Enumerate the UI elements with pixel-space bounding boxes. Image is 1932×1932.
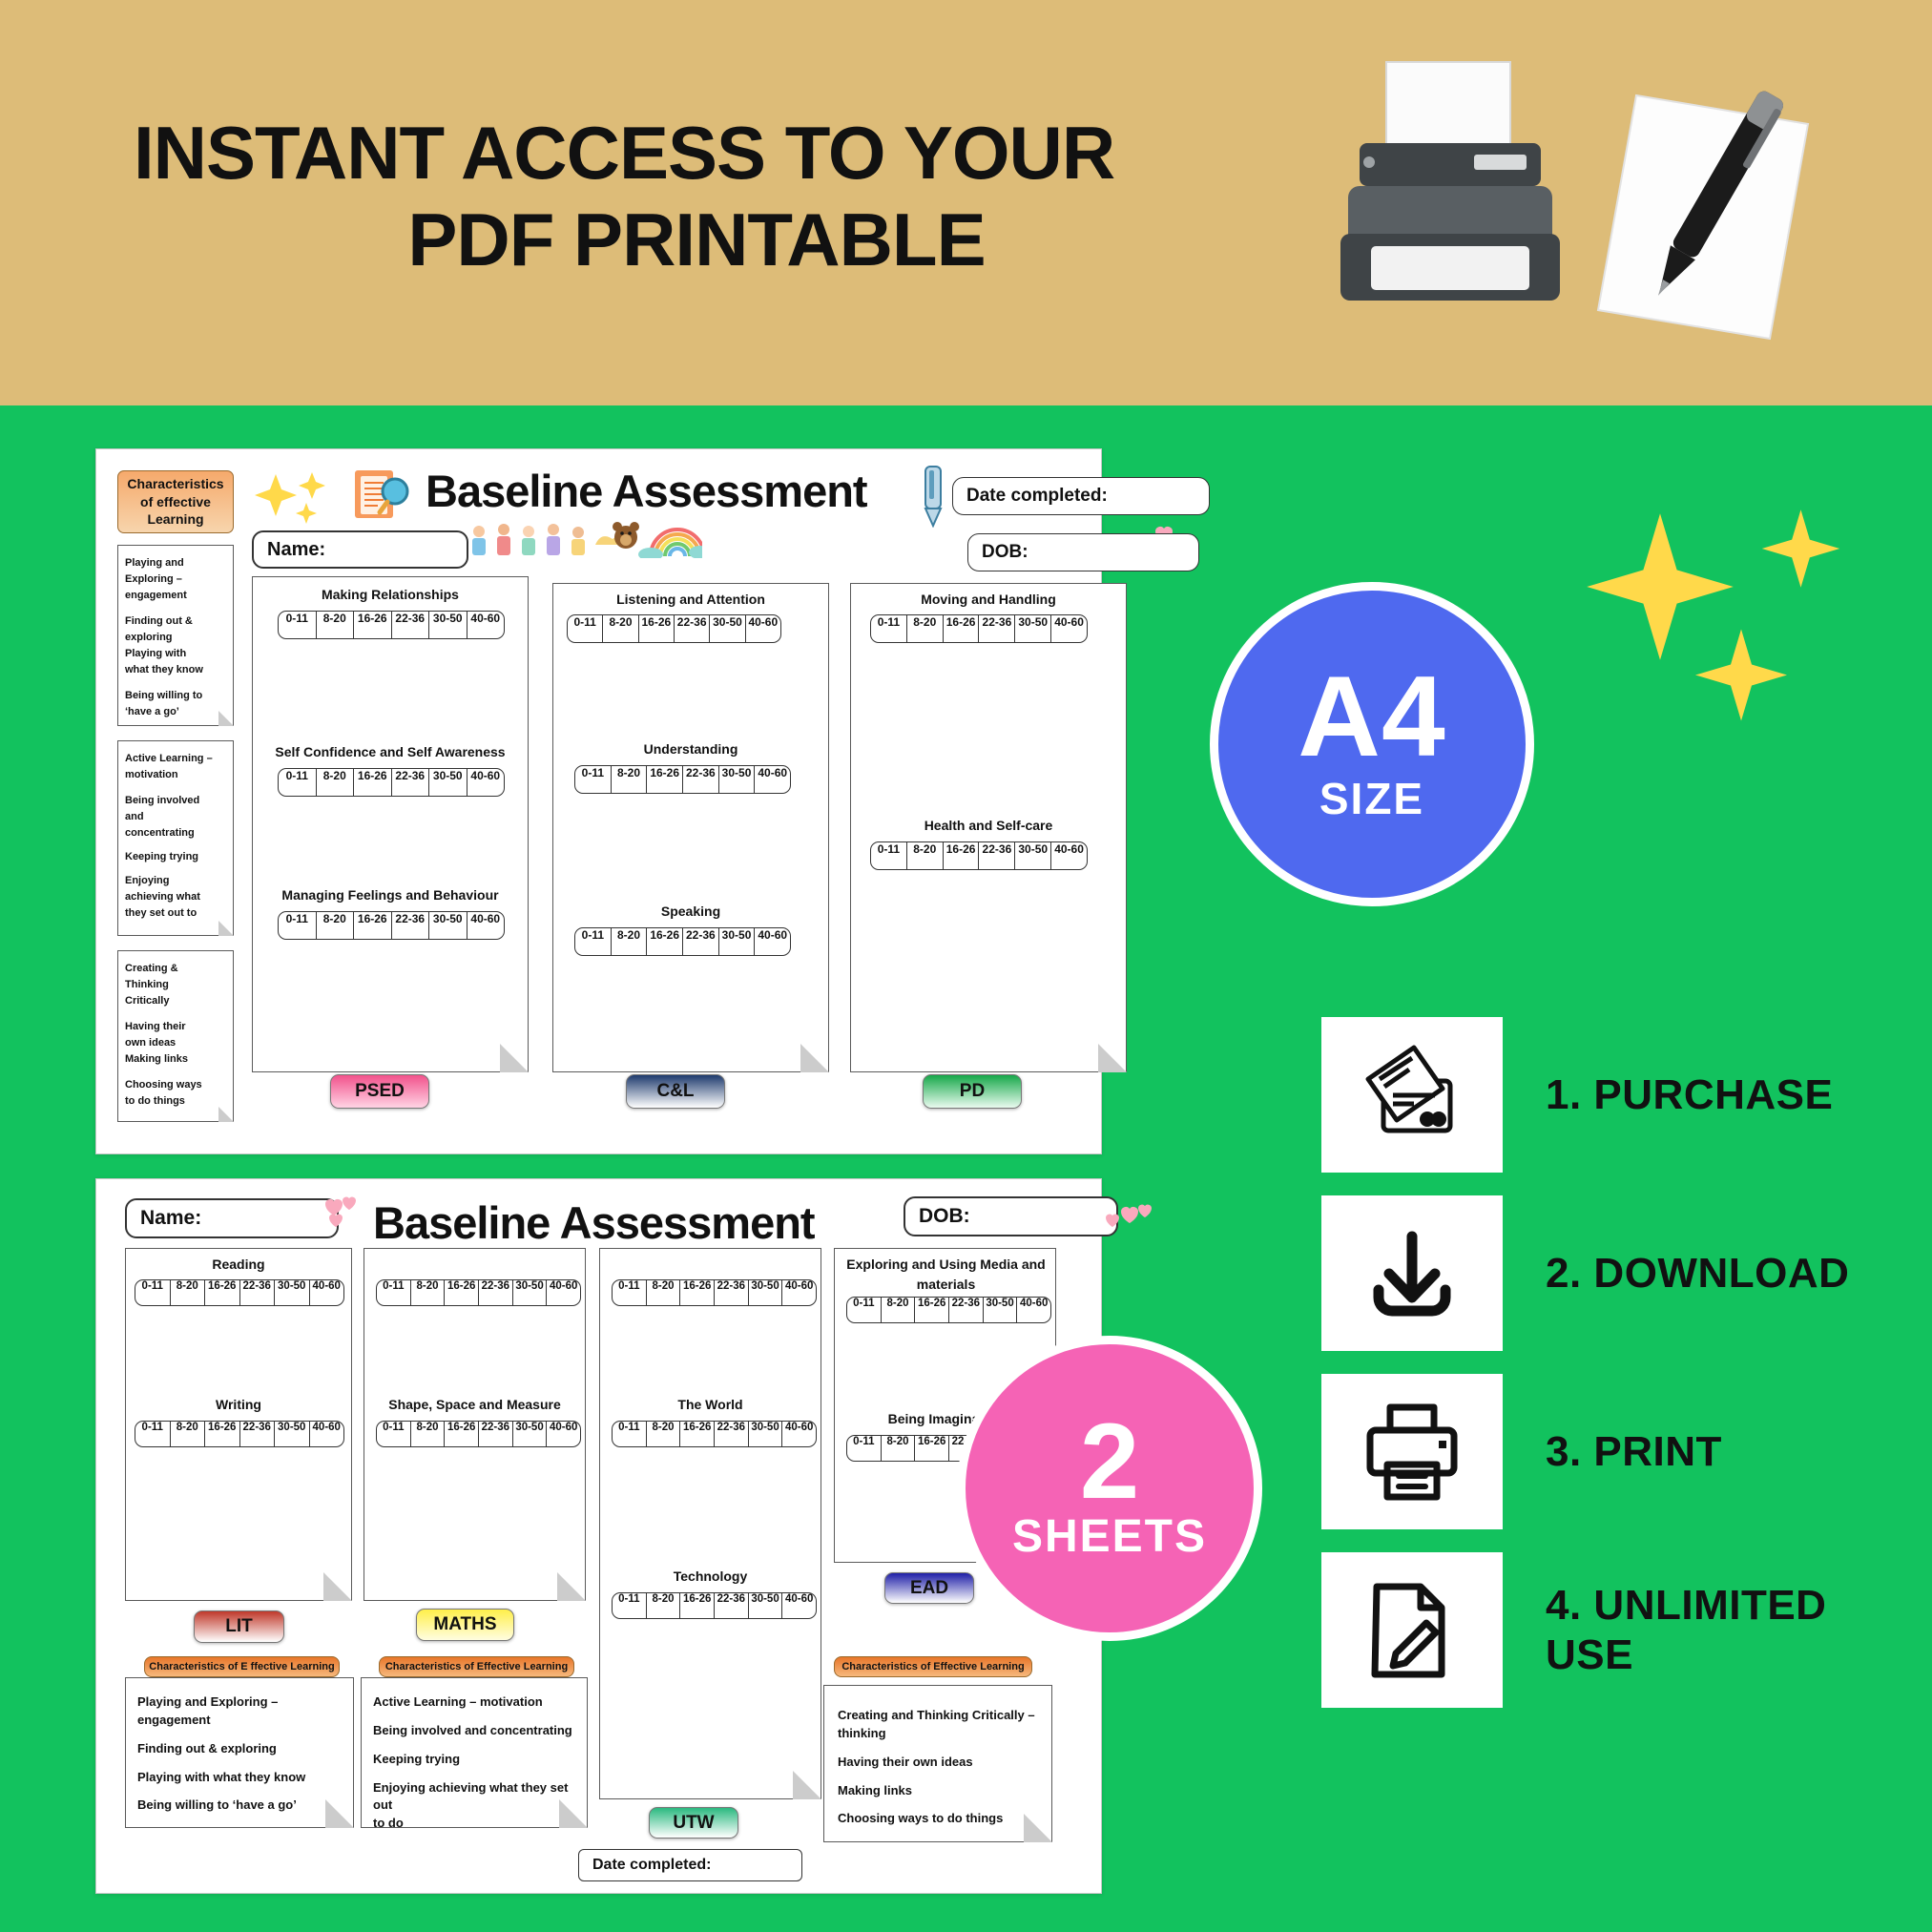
age-band-cell[interactable]: 16-26	[680, 1422, 715, 1446]
age-band-row[interactable]: 0-11 8-20 16-26 22-36 30-50 40-60	[135, 1279, 344, 1306]
age-band-cell[interactable]: 8-20	[171, 1422, 206, 1446]
step-purchase: 1. PURCHASE	[1321, 1011, 1913, 1178]
age-band-cell[interactable]: 16-26	[944, 615, 980, 642]
age-band-cell[interactable]: 22-36	[715, 1280, 749, 1305]
age-band-cell[interactable]: 30-50	[749, 1422, 783, 1446]
age-band-cell[interactable]: 30-50	[1015, 615, 1051, 642]
a4-badge-sub: SIZE	[1319, 773, 1424, 824]
age-band-cell[interactable]: 0-11	[613, 1593, 647, 1618]
age-band-cell[interactable]: 16-26	[944, 842, 980, 869]
coel-line: Exploring –	[125, 571, 226, 588]
age-band-cell[interactable]: 30-50	[719, 766, 756, 793]
coel-line: what they know	[125, 662, 226, 678]
age-band-cell[interactable]: 16-26	[647, 928, 683, 955]
printer-icon	[1359, 1400, 1465, 1505]
coel-box-creating-thinking: Creating & Thinking Critically Having th…	[117, 950, 234, 1122]
age-band-cell[interactable]: 30-50	[513, 1280, 548, 1305]
coel-line: Active Learning –	[125, 751, 226, 767]
tag-psed[interactable]: PSED	[330, 1074, 429, 1109]
age-band-cell[interactable]: 0-11	[135, 1422, 171, 1446]
age-band-row[interactable]: 0-11 8-20 16-26 22-36 30-50 40-60	[278, 611, 505, 639]
page-fold-corner	[1098, 1044, 1127, 1072]
coel-line: thinking	[838, 1725, 1038, 1743]
coel-line: Having their own ideas	[838, 1754, 1038, 1772]
coel-line: and	[125, 809, 226, 825]
page-fold-corner	[323, 1572, 352, 1601]
age-band-cell[interactable]: 40-60	[1051, 842, 1087, 869]
age-band-cell[interactable]: 30-50	[749, 1280, 783, 1305]
tag-utw[interactable]: UTW	[649, 1807, 738, 1839]
age-band-cell[interactable]: 16-26	[915, 1436, 949, 1461]
coel-line: Creating and Thinking Critically –	[838, 1707, 1038, 1725]
age-band-row[interactable]: 0-11 8-20 16-26 22-36 30-50 40-60	[612, 1592, 817, 1619]
page-fold-corner	[218, 711, 234, 726]
age-band-cell[interactable]: 40-60	[782, 1593, 816, 1618]
age-band-cell[interactable]: 8-20	[603, 615, 638, 642]
age-band-cell[interactable]: 22-36	[683, 928, 719, 955]
coel-line: Finding out & exploring	[137, 1740, 342, 1758]
age-band-cell[interactable]: 0-11	[871, 842, 907, 869]
step-label-download: 2. DOWNLOAD	[1546, 1249, 1849, 1298]
age-band-cell[interactable]: 40-60	[467, 912, 505, 939]
coel-line: Finding out &	[125, 613, 226, 630]
age-band-row[interactable]: 0-11 8-20 16-26 22-36 30-50 40-60	[278, 911, 505, 940]
age-band-cell[interactable]: 8-20	[317, 769, 355, 796]
coel-box-active-learning: Active Learning – motivation Being invol…	[117, 740, 234, 936]
section-title: Health and Self-care	[851, 818, 1126, 833]
age-band-cell[interactable]: 0-11	[568, 615, 603, 642]
age-band-cell[interactable]: 0-11	[871, 615, 907, 642]
sheets-badge-sub: SHEETS	[1012, 1510, 1207, 1563]
age-band-cell[interactable]: 30-50	[275, 1422, 310, 1446]
age-band-cell[interactable]: 40-60	[782, 1422, 816, 1446]
age-band-cell[interactable]: 40-60	[547, 1422, 580, 1446]
age-band-cell[interactable]: 30-50	[429, 769, 467, 796]
age-band-cell[interactable]: 8-20	[411, 1422, 446, 1446]
age-band-cell[interactable]: 0-11	[575, 766, 612, 793]
tag-ead[interactable]: EAD	[884, 1572, 974, 1604]
sheet2-title: Baseline Assessment	[373, 1196, 815, 1249]
section-title: Writing	[126, 1397, 351, 1412]
section-title: Self Confidence and Self Awareness	[253, 744, 528, 759]
sparkle-icon-small	[1760, 506, 1841, 592]
coel-line: Being willing to ‘have a go’	[137, 1797, 342, 1815]
coel-line: concentrating	[125, 825, 226, 841]
hearts-icon	[1102, 1198, 1157, 1238]
age-band-cell[interactable]: 8-20	[647, 1422, 681, 1446]
age-band-row[interactable]: 0-11 8-20 16-26 22-36 30-50 40-60	[612, 1279, 817, 1306]
coel-line: Thinking	[125, 977, 226, 993]
age-band-cell[interactable]: 30-50	[275, 1280, 310, 1305]
sheet1-date-label: Date completed:	[966, 486, 1108, 507]
coel-line: Enjoying	[125, 873, 226, 889]
coel-line: motivation	[125, 767, 226, 783]
coel-line: Choosing ways	[125, 1077, 226, 1093]
age-band-cell[interactable]: 40-60	[1017, 1298, 1050, 1322]
sheet1-dob-field[interactable]: DOB:	[967, 533, 1199, 571]
age-band-cell[interactable]: 40-60	[782, 1280, 816, 1305]
section-title: Shape, Space and Measure	[364, 1397, 585, 1412]
panel-pd: Moving and Handling 0-11 8-20 16-26 22-3…	[850, 583, 1127, 1072]
section-title: Moving and Handling	[851, 592, 1126, 607]
age-band-cell[interactable]: 40-60	[310, 1422, 344, 1446]
age-band-cell[interactable]: 22-36	[479, 1422, 513, 1446]
coel-line: Making links	[125, 1051, 226, 1068]
age-band-cell[interactable]: 22-36	[949, 1298, 984, 1322]
coel-header-chip-ead: Characteristics of Effective Learning	[834, 1656, 1032, 1677]
section-title: Understanding	[553, 741, 828, 757]
age-band-cell[interactable]: 40-60	[755, 928, 790, 955]
coel-line: Keeping trying	[125, 849, 226, 865]
age-band-cell[interactable]: 40-60	[467, 769, 505, 796]
age-band-cell[interactable]: 30-50	[429, 912, 467, 939]
panel-psed: Making Relationships 0-11 8-20 16-26 22-…	[252, 576, 529, 1072]
top-banner: INSTANT ACCESS TO YOUR PDF PRINTABLE	[0, 0, 1932, 405]
document-search-icon	[349, 467, 416, 524]
edit-document-icon-tile	[1321, 1552, 1503, 1708]
age-band-cell[interactable]: 22-36	[715, 1593, 749, 1618]
coel-line: Being willing to	[125, 688, 226, 704]
coel-line: Being involved	[125, 793, 226, 809]
age-band-cell[interactable]: 40-60	[547, 1280, 580, 1305]
panel-lit: Reading 0-11 8-20 16-26 22-36 30-50 40-6…	[125, 1248, 352, 1601]
coel-line: engagement	[137, 1712, 342, 1730]
printer-icon	[1340, 143, 1560, 301]
age-band-cell[interactable]: 16-26	[354, 769, 392, 796]
download-icon-tile	[1321, 1195, 1503, 1351]
coel-line: Playing and Exploring –	[137, 1693, 342, 1712]
page-fold-corner	[800, 1044, 829, 1072]
age-band-cell[interactable]: 0-11	[279, 912, 317, 939]
age-band-row[interactable]: 0-11 8-20 16-26 22-36 30-50 40-60	[612, 1421, 817, 1447]
coel-line: Playing and	[125, 555, 226, 571]
age-band-cell[interactable]: 30-50	[513, 1422, 548, 1446]
step-label-unlimited-use: 4. UNLIMITED USE	[1546, 1581, 1899, 1680]
age-band-cell[interactable]: 16-26	[445, 1280, 479, 1305]
coel-box-playing-exploring-2: Playing and Exploring – engagement Findi…	[125, 1677, 354, 1828]
section-title: Technology	[600, 1568, 821, 1584]
coel-line: Choosing ways to do things	[838, 1810, 1038, 1828]
coel-header-chip-maths: Characteristics of Effective Learning	[379, 1656, 574, 1677]
age-band-cell[interactable]: 22-36	[392, 769, 430, 796]
age-band-cell[interactable]: 30-50	[710, 615, 745, 642]
age-band-cell[interactable]: 16-26	[205, 1280, 240, 1305]
age-band-cell[interactable]: 8-20	[882, 1298, 916, 1322]
age-band-cell[interactable]: 8-20	[907, 842, 944, 869]
sheet2-dob-field[interactable]: DOB:	[904, 1196, 1118, 1236]
section-title: Listening and Attention	[553, 592, 828, 607]
coel-line: Playing with	[125, 646, 226, 662]
tag-cl[interactable]: C&L	[626, 1074, 725, 1109]
age-band-cell[interactable]: 16-26	[445, 1422, 479, 1446]
section-title: The World	[600, 1397, 821, 1412]
step-label-print: 3. PRINT	[1546, 1427, 1722, 1477]
age-band-cell[interactable]: 22-36	[979, 842, 1015, 869]
credit-card-icon	[1355, 1043, 1469, 1148]
printer-and-pen-illustration	[1331, 52, 1846, 358]
age-band-row[interactable]: 0-11 8-20 16-26 22-36 30-50 40-60	[574, 765, 791, 794]
age-band-cell[interactable]: 16-26	[639, 615, 675, 642]
edit-document-icon	[1360, 1577, 1465, 1684]
age-band-row[interactable]: 0-11 8-20 16-26 22-36 30-50 40-60	[278, 768, 505, 797]
age-band-cell[interactable]: 8-20	[882, 1436, 916, 1461]
coel-line: to do	[373, 1815, 575, 1833]
coel-line: Making links	[838, 1782, 1038, 1800]
coel-line: engagement	[125, 588, 226, 604]
coel-line: exploring	[125, 630, 226, 646]
a4-size-badge: A4 SIZE	[1210, 582, 1534, 906]
age-band-cell[interactable]: 16-26	[647, 766, 683, 793]
age-band-cell[interactable]: 40-60	[746, 615, 780, 642]
page-fold-corner	[559, 1799, 588, 1828]
sheet1-title: Baseline Assessment	[426, 465, 867, 517]
age-band-cell[interactable]: 8-20	[647, 1280, 681, 1305]
age-band-cell[interactable]: 8-20	[317, 912, 355, 939]
age-band-row[interactable]: 0-11 8-20 16-26 22-36 30-50 40-60	[376, 1279, 581, 1306]
page-fold-corner	[218, 921, 234, 936]
age-band-cell[interactable]: 8-20	[612, 928, 648, 955]
sheets-badge-main: 2	[1080, 1414, 1139, 1510]
sparkle-icon-medium	[1693, 625, 1789, 725]
age-band-cell[interactable]: 22-36	[479, 1280, 513, 1305]
age-band-cell[interactable]: 16-26	[354, 912, 392, 939]
banner-title-line2: PDF PRINTABLE	[134, 193, 1259, 288]
panel-utw: 0-11 8-20 16-26 22-36 30-50 40-60 The Wo…	[599, 1248, 821, 1799]
sheet2-name-field[interactable]: Name:	[125, 1198, 339, 1238]
coel-line: Playing with what they know	[137, 1769, 342, 1787]
age-band-cell[interactable]: 22-36	[392, 912, 430, 939]
age-band-row[interactable]: 0-11 8-20 16-26 22-36 30-50 40-60	[567, 614, 781, 643]
banner-title-line1: INSTANT ACCESS TO YOUR	[134, 114, 1259, 193]
age-band-cell[interactable]: 30-50	[719, 928, 756, 955]
age-band-cell[interactable]: 0-11	[377, 1422, 411, 1446]
age-band-row[interactable]: 0-11 8-20 16-26 22-36 30-50 40-60	[376, 1421, 581, 1447]
printable-sheet-1: Characteristics of effective Learning Ba…	[95, 448, 1102, 1154]
age-band-cell[interactable]: 0-11	[613, 1422, 647, 1446]
steps-list: 1. PURCHASE 2. DOWNLOAD	[1321, 1011, 1913, 1725]
coel-box-playing-exploring: Playing and Exploring – engagement Findi…	[117, 545, 234, 726]
sheet2-date-label: Date completed:	[592, 1857, 711, 1874]
sheets-count-badge: 2 SHEETS	[957, 1336, 1262, 1641]
sheet2-dob-label: DOB:	[919, 1205, 970, 1228]
age-band-cell[interactable]: 30-50	[1015, 842, 1051, 869]
age-band-cell[interactable]: 16-26	[915, 1298, 949, 1322]
printable-sheet-2: Name: Baseline Assessment DOB: Reading 0…	[95, 1178, 1102, 1894]
age-band-cell[interactable]: 40-60	[755, 766, 790, 793]
age-band-cell[interactable]: 22-36	[240, 1422, 276, 1446]
coel-line: Active Learning – motivation	[373, 1693, 575, 1712]
panel-cl: Listening and Attention 0-11 8-20 16-26 …	[552, 583, 829, 1072]
page-fold-corner	[325, 1799, 354, 1828]
step-print: 3. PRINT	[1321, 1368, 1913, 1535]
page-fold-corner	[1024, 1814, 1052, 1842]
step-download: 2. DOWNLOAD	[1321, 1190, 1913, 1357]
panel-maths: 0-11 8-20 16-26 22-36 30-50 40-60 Shape,…	[364, 1248, 586, 1601]
a4-badge-main: A4	[1298, 664, 1445, 769]
banner-title: INSTANT ACCESS TO YOUR PDF PRINTABLE	[134, 114, 1259, 288]
age-band-cell[interactable]: 16-26	[205, 1422, 240, 1446]
hearts-icon	[308, 1193, 365, 1235]
age-band-row[interactable]: 0-11 8-20 16-26 22-36 30-50 40-60	[870, 614, 1088, 643]
download-icon	[1360, 1221, 1465, 1326]
age-band-cell[interactable]: 16-26	[354, 612, 392, 638]
coel-line: achieving what	[125, 889, 226, 905]
age-band-cell[interactable]: 8-20	[411, 1280, 446, 1305]
age-band-row[interactable]: 0-11 8-20 16-26 22-36 30-50 40-60	[574, 927, 791, 956]
age-band-cell[interactable]: 22-36	[240, 1280, 276, 1305]
coel-header-chip-lit: Characteristics of E ffective Learning	[144, 1656, 340, 1677]
credit-card-icon-tile	[1321, 1017, 1503, 1173]
section-title: Reading	[126, 1257, 351, 1272]
age-band-cell[interactable]: 30-50	[429, 612, 467, 638]
age-band-row[interactable]: 0-11 8-20 16-26 22-36 30-50 40-60	[846, 1297, 1051, 1323]
age-band-cell[interactable]: 22-36	[392, 612, 430, 638]
page-fold-corner	[500, 1044, 529, 1072]
age-band-row[interactable]: 0-11 8-20 16-26 22-36 30-50 40-60	[870, 841, 1088, 870]
sheet1-dob-label: DOB:	[982, 542, 1028, 563]
age-band-cell[interactable]: 0-11	[847, 1436, 882, 1461]
coel-header-chip: Characteristics of effective Learning	[117, 470, 234, 533]
coel-line: Enjoying achieving what they set out	[373, 1779, 575, 1816]
tag-pd[interactable]: PD	[923, 1074, 1022, 1109]
page-fold-corner	[218, 1107, 234, 1122]
step-unlimited-use: 4. UNLIMITED USE	[1321, 1547, 1913, 1714]
age-band-cell[interactable]: 40-60	[310, 1280, 344, 1305]
sheet1-date-completed-field[interactable]: Date completed:	[952, 477, 1210, 515]
coel-box-creating-thinking-2: Creating and Thinking Critically – think…	[823, 1685, 1052, 1842]
age-band-cell[interactable]: 22-36	[979, 615, 1015, 642]
age-band-cell[interactable]: 40-60	[467, 612, 505, 638]
age-band-cell[interactable]: 0-11	[613, 1280, 647, 1305]
coel-line: ‘have a go’	[125, 704, 226, 720]
coel-line: Being involved and concentrating	[373, 1722, 575, 1740]
age-band-cell[interactable]: 40-60	[1051, 615, 1087, 642]
page-fold-corner	[557, 1572, 586, 1601]
age-band-cell[interactable]: 0-11	[575, 928, 612, 955]
age-band-cell[interactable]: 0-11	[135, 1280, 171, 1305]
age-band-cell[interactable]: 22-36	[675, 615, 710, 642]
page-fold-corner	[793, 1771, 821, 1799]
age-band-cell[interactable]: 0-11	[279, 769, 317, 796]
coel-line: Critically	[125, 993, 226, 1009]
printer-icon-tile	[1321, 1374, 1503, 1529]
tag-maths[interactable]: MATHS	[416, 1609, 514, 1641]
coel-line: Having their	[125, 1019, 226, 1035]
age-band-cell[interactable]: 8-20	[647, 1593, 681, 1618]
coel-box-active-learning-2: Active Learning – motivation Being invol…	[361, 1677, 588, 1828]
children-illustration	[464, 516, 702, 558]
age-band-cell[interactable]: 0-11	[279, 612, 317, 638]
age-band-cell[interactable]: 16-26	[680, 1280, 715, 1305]
age-band-cell[interactable]: 8-20	[171, 1280, 206, 1305]
coel-line: Creating &	[125, 961, 226, 977]
section-title: Speaking	[553, 904, 828, 919]
step-label-purchase: 1. PURCHASE	[1546, 1070, 1833, 1120]
age-band-cell[interactable]: 22-36	[683, 766, 719, 793]
sheet2-name-label: Name:	[140, 1207, 201, 1230]
section-title: Making Relationships	[253, 587, 528, 602]
age-band-row[interactable]: 0-11 8-20 16-26 22-36 30-50 40-60	[135, 1421, 344, 1447]
sheet1-name-label: Name:	[267, 539, 325, 561]
coel-line: own ideas	[125, 1035, 226, 1051]
age-band-cell[interactable]: 0-11	[377, 1280, 411, 1305]
coel-line: Keeping trying	[373, 1751, 575, 1769]
sheet2-date-completed-field[interactable]: Date completed:	[578, 1849, 802, 1881]
section-title: Exploring and Using Media and materials	[842, 1255, 1049, 1295]
coel-line: to do things	[125, 1093, 226, 1110]
age-band-cell[interactable]: 8-20	[317, 612, 355, 638]
tag-lit[interactable]: LIT	[194, 1610, 284, 1643]
section-title: Managing Feelings and Behaviour	[253, 887, 528, 903]
age-band-cell[interactable]: 8-20	[907, 615, 944, 642]
age-band-cell[interactable]: 30-50	[749, 1593, 783, 1618]
coel-line: they set out to	[125, 905, 226, 922]
age-band-cell[interactable]: 22-36	[715, 1422, 749, 1446]
sparkle-icon	[249, 470, 354, 524]
age-band-cell[interactable]: 30-50	[984, 1298, 1018, 1322]
age-band-cell[interactable]: 8-20	[612, 766, 648, 793]
age-band-cell[interactable]: 0-11	[847, 1298, 882, 1322]
sheet1-name-field[interactable]: Name:	[252, 530, 468, 569]
age-band-cell[interactable]: 16-26	[680, 1593, 715, 1618]
pen-icon	[919, 465, 947, 528]
